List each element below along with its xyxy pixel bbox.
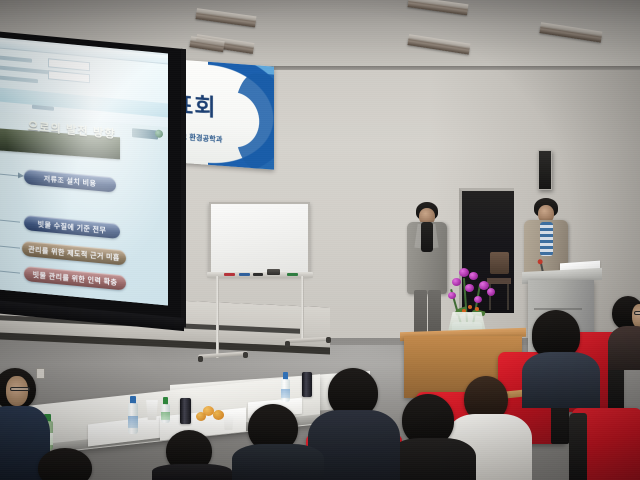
- audience-member: [240, 404, 318, 480]
- eyeglasses: [634, 311, 640, 315]
- patterned-shirt: [540, 222, 553, 256]
- slide-node: 저류조 설치 비용: [24, 169, 116, 193]
- audience-member: [318, 368, 394, 480]
- shoulders: [232, 444, 324, 480]
- orange-fruit: [213, 410, 224, 420]
- beverage-can: [302, 372, 312, 397]
- marker-blue: [239, 273, 250, 276]
- orchid-bloom: [452, 278, 461, 286]
- head: [38, 448, 92, 480]
- audience-member: [160, 430, 226, 480]
- shoulders: [388, 438, 476, 480]
- chair-in-doorway: [487, 252, 511, 310]
- slide-logo: [132, 128, 158, 139]
- orchid-bloom: [487, 288, 495, 296]
- seminar-hall-photograph: 발표회 표회 대구대학교 환경공학과 으로의 발전 방향: [0, 0, 640, 480]
- orchid-bloom: [474, 296, 482, 303]
- water-bottle: [128, 396, 138, 434]
- marker-black: [253, 273, 263, 276]
- audience-member: [612, 296, 640, 370]
- presentation-slide: 으로의 발전 방향 저류조 설치 비용 빗물 수질에 기준 전무 관리를 위한 …: [0, 111, 168, 306]
- orange-fruit: [196, 412, 206, 421]
- shoulders: [152, 464, 232, 480]
- orchid-bloom: [469, 272, 478, 280]
- whiteboard-stand-leg: [216, 276, 219, 358]
- projection-screen: 으로의 발전 방향 저류조 설치 비용 빗물 수질에 기준 전무 관리를 위한 …: [0, 31, 186, 328]
- marker-red: [224, 273, 235, 276]
- beverage-can: [180, 398, 191, 424]
- auditorium-seat: [572, 408, 640, 480]
- app-text-field: [48, 58, 90, 71]
- whiteboard-caster: [198, 356, 203, 362]
- face: [6, 376, 28, 406]
- eyeglasses: [10, 387, 30, 391]
- slide-node: 관리를 위한 제도적 근거 미흡: [22, 241, 126, 266]
- screen-surface: 으로의 발전 방향 저류조 설치 비용 빗물 수질에 기준 전무 관리를 위한 …: [0, 37, 168, 306]
- whiteboard-caster: [326, 337, 331, 343]
- orchid-bloom: [459, 268, 469, 277]
- wall-speaker: [538, 150, 552, 190]
- water-bottle: [281, 372, 290, 402]
- head: [532, 310, 580, 358]
- accent-flower: [468, 305, 472, 309]
- black-turtleneck: [421, 222, 433, 252]
- accent-flower: [475, 307, 479, 311]
- whiteboard-caster: [285, 341, 290, 347]
- face: [632, 304, 640, 328]
- marker-green: [287, 273, 298, 276]
- water-bottle: [161, 397, 170, 423]
- orchid-bloom: [465, 284, 474, 292]
- audience-member: [526, 310, 600, 406]
- shoulders: [608, 326, 640, 370]
- banner-swoosh-graphic-2: [234, 72, 274, 170]
- whiteboard-caster: [243, 352, 248, 358]
- slide-node: 빗물 관리를 위한 인력 확충: [24, 266, 126, 291]
- whiteboard-stand-leg: [301, 276, 304, 342]
- audience-member: [398, 394, 474, 480]
- whiteboard-eraser: [267, 269, 280, 275]
- slide-node: 빗물 수질에 기준 전무: [24, 215, 120, 239]
- whiteboard: [209, 202, 310, 275]
- orchid-bloom: [448, 292, 456, 299]
- shoulders: [522, 352, 600, 408]
- audience-member: [30, 448, 108, 480]
- app-text-field: [48, 70, 90, 83]
